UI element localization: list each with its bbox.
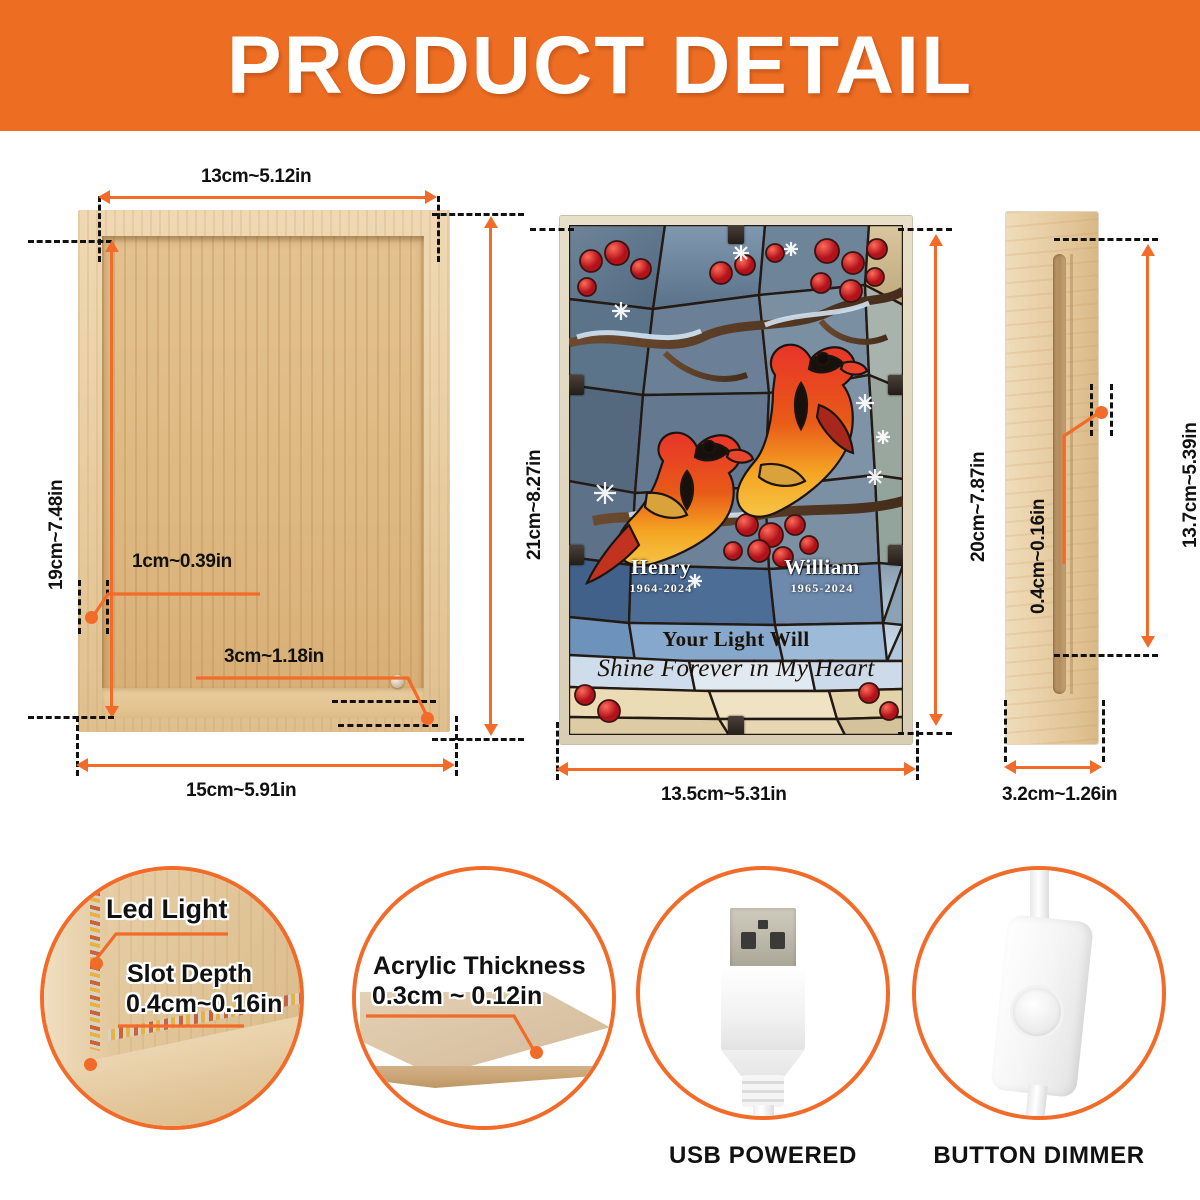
button-dimmer-caption: BUTTON DIMMER (912, 1142, 1166, 1170)
dim-label-inner-height: 19cm~7.48in (46, 480, 68, 590)
leader-dot-slot-width (1095, 406, 1108, 419)
dim-label-base-depth: 3cm~1.18in (224, 646, 324, 668)
panel-hinge-top (728, 225, 744, 244)
ext-line-panel-right (916, 722, 919, 780)
acrylic-thickness-value: 0.3cm ~ 0.12in (372, 982, 542, 1011)
memorial-entry-1: Henry 1964-2024 (591, 555, 731, 596)
stained-glass-artwork: Henry 1964-2024 William 1965-2024 Your L… (569, 225, 903, 735)
dim-label-board-width: 3.2cm~1.26in (1002, 784, 1117, 806)
arrow-up-inner-height (105, 240, 119, 252)
quote-line-2: Shine Forever in My Heart (569, 655, 903, 683)
ext-line-slotw-b (1110, 384, 1113, 436)
leader-base-depth (196, 666, 436, 728)
dim-label-panel-width: 13.5cm~5.31in (661, 784, 787, 806)
ext-line-box-right (437, 196, 440, 262)
arrow-left-outer-width (76, 758, 88, 772)
arrow-left-inner-width (98, 190, 110, 204)
arrow-down-panel-height (929, 714, 943, 726)
leader-dot-wall-thickness (85, 611, 98, 624)
arrow-right-outer-width (443, 758, 455, 772)
usb-center-tab (758, 920, 768, 929)
dim-label-outer-width: 15cm~5.91in (186, 780, 296, 802)
memorial-dates-2: 1965-2024 (749, 581, 895, 596)
arrow-left-board-width (1004, 760, 1016, 774)
dim-label-slot-length: 13.7cm~5.39in (1180, 422, 1200, 548)
memorial-entry-2: William 1965-2024 (749, 555, 895, 596)
slot-depth-value: 0.4cm~0.16in (126, 990, 282, 1019)
leader-slot-width (1042, 404, 1108, 570)
header-banner: PRODUCT DETAIL (0, 0, 1200, 131)
panel-hinge-right-top (888, 375, 903, 395)
leader-slot-depth (118, 1018, 246, 1082)
ext-line-box-topleft (28, 240, 112, 243)
dim-label-inner-width: 13cm~5.12in (201, 166, 311, 188)
dim-line-board-width (1010, 766, 1096, 769)
ext-line-slot-top (1054, 238, 1158, 241)
artwork-quote: Your Light Will Shine Forever in My Hear… (569, 627, 903, 683)
leader-dot-acrylic-thickness (530, 1046, 543, 1059)
dim-line-outer-height (489, 222, 492, 730)
dim-line-panel-height (934, 240, 937, 720)
dim-line-outer-width (82, 764, 450, 767)
ext-line-box-bottomright (432, 738, 524, 741)
page-title: PRODUCT DETAIL (0, 23, 1200, 109)
arrow-up-panel-height (929, 234, 943, 246)
leader-acrylic-thickness (366, 1008, 562, 1072)
ext-line-box-left (98, 196, 101, 262)
usb-plastic-body (721, 966, 805, 1052)
quote-line-1: Your Light Will (569, 627, 903, 652)
dim-line-slot-length (1146, 250, 1149, 642)
usb-strain-relief (742, 1075, 784, 1107)
leader-dot-led-light (90, 957, 103, 970)
arrow-left-panel-width (556, 762, 568, 776)
feature-circle-button-dimmer (912, 866, 1166, 1120)
dim-label-slot-width: 0.4cm~0.16in (1028, 499, 1050, 614)
memorial-names: Henry 1964-2024 William 1965-2024 (569, 555, 903, 611)
memorial-name-1: Henry (591, 555, 731, 580)
arrow-up-outer-height (484, 216, 498, 228)
arrow-down-slot-length (1141, 636, 1155, 648)
memorial-dates-1: 1964-2024 (591, 581, 731, 596)
arrow-right-inner-width (425, 190, 437, 204)
usb-metal-shell (730, 908, 796, 970)
dim-label-wall-thickness: 1cm~0.39in (132, 551, 232, 573)
leader-dot-slot-depth (84, 1058, 97, 1071)
ext-line-panel-bottomright (898, 732, 952, 735)
usb-powered-caption: USB POWERED (636, 1142, 890, 1170)
ext-line-board-left (1004, 700, 1007, 762)
panel-frame: Henry 1964-2024 William 1965-2024 Your L… (560, 216, 912, 744)
arrow-right-panel-width (904, 762, 916, 776)
product-detail-infographic: PRODUCT DETAIL 13cm~5.12in 19cm~7.48in (0, 0, 1200, 1200)
ext-line-box-topright (432, 213, 524, 216)
ext-line-box-bottomleft (28, 716, 114, 719)
dim-line-inner-height (110, 246, 113, 712)
dim-line-inner-width (104, 196, 432, 199)
ext-line-outer-right (455, 716, 458, 776)
acrylic-panel-image: Henry 1964-2024 William 1965-2024 Your L… (560, 216, 912, 744)
leader-wall-thickness (84, 570, 264, 634)
acrylic-thickness-label: Acrylic Thickness (373, 952, 586, 981)
panel-hinge-left-top (569, 375, 584, 395)
dimmer-cable-top (1030, 866, 1049, 924)
box-top-lip (102, 236, 424, 243)
feature-circle-usb-powered (636, 866, 890, 1120)
memorial-name-2: William (749, 555, 895, 580)
usb-cable (753, 1105, 774, 1120)
slot-depth-label: Slot Depth (127, 960, 252, 989)
panel-hinge-bottom (728, 716, 744, 735)
ext-line-panel-topright (898, 228, 952, 231)
led-light-label: Led Light (106, 894, 227, 925)
arrow-right-board-width (1090, 760, 1102, 774)
arrow-down-outer-height (484, 724, 498, 736)
dim-line-panel-width (562, 768, 910, 771)
dim-label-outer-height: 21cm~8.27in (524, 450, 546, 560)
arrow-up-slot-length (1141, 244, 1155, 256)
usb-strain-taper (721, 1050, 805, 1076)
dim-label-panel-height: 20cm~7.87in (968, 452, 990, 562)
ext-line-slot-bottom (1054, 654, 1158, 657)
usb-contact-slot-right (770, 932, 785, 949)
ext-line-wall-a (78, 580, 81, 634)
leader-dot-base-depth (421, 712, 434, 725)
ext-line-panel-topleft (530, 228, 574, 231)
usb-contact-slot-left (741, 932, 756, 949)
ext-line-board-right (1102, 700, 1105, 762)
